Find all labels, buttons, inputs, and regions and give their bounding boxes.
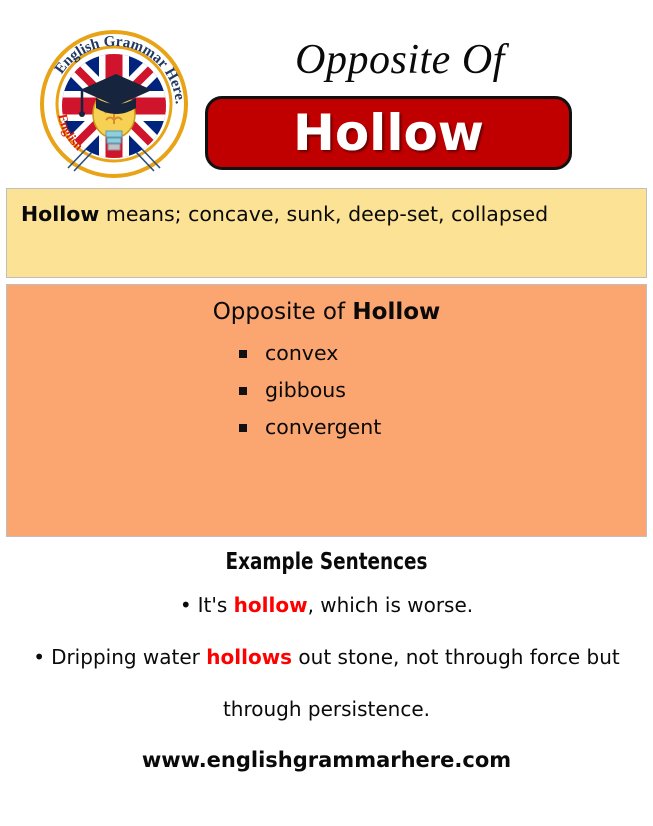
example-sentence: •Dripping water hollows out stone, not t… xyxy=(0,631,653,735)
meaning-box: Hollow means; concave, sunk, deep-set, c… xyxy=(6,188,647,278)
site-logo: English Grammar Here.Com English xyxy=(38,28,190,180)
bullet-icon: • xyxy=(33,645,45,669)
example-before: Dripping water xyxy=(51,645,206,669)
examples-section: Example Sentences •It's hollow, which is… xyxy=(0,545,653,777)
antonym-heading: Opposite of Hollow xyxy=(7,297,646,327)
list-item: convergent xyxy=(239,409,646,446)
headword-text: Hollow xyxy=(293,108,484,158)
headword-plate: Hollow xyxy=(205,96,572,170)
list-item: gibbous xyxy=(239,372,646,409)
antonym-list: convex gibbous convergent xyxy=(7,335,646,446)
meaning-connector: means; xyxy=(99,202,188,226)
page-title: Opposite Of xyxy=(205,34,595,86)
square-bullet-icon xyxy=(239,350,247,358)
antonym-heading-word: Hollow xyxy=(352,299,440,325)
example-sentence: •It's hollow, which is worse. xyxy=(0,579,653,631)
antonym-label: convergent xyxy=(265,415,381,439)
example-highlight: hollows xyxy=(206,645,292,669)
example-before: It's xyxy=(198,593,234,617)
square-bullet-icon xyxy=(239,424,247,432)
list-item: convex xyxy=(239,335,646,372)
site-url: www.englishgrammarhere.com xyxy=(0,743,653,777)
bullet-icon: • xyxy=(180,593,192,617)
antonym-heading-prefix: Opposite of xyxy=(213,299,353,325)
meaning-word: Hollow xyxy=(21,202,99,226)
example-after: , which is worse. xyxy=(308,593,474,617)
meaning-text: Hollow means; concave, sunk, deep-set, c… xyxy=(21,199,632,230)
antonym-label: convex xyxy=(265,341,338,365)
page-root: English Grammar Here.Com English Opposit… xyxy=(0,0,653,826)
logo-badge-icon: English Grammar Here.Com English xyxy=(38,28,190,180)
square-bullet-icon xyxy=(239,387,247,395)
antonym-box: Opposite of Hollow convex gibbous conver… xyxy=(6,284,647,537)
header: English Grammar Here.Com English Opposit… xyxy=(0,0,653,188)
example-highlight: hollow xyxy=(234,593,308,617)
antonym-label: gibbous xyxy=(265,378,346,402)
meaning-definition: concave, sunk, deep-set, collapsed xyxy=(188,202,548,226)
examples-title: Example Sentences xyxy=(65,545,587,579)
